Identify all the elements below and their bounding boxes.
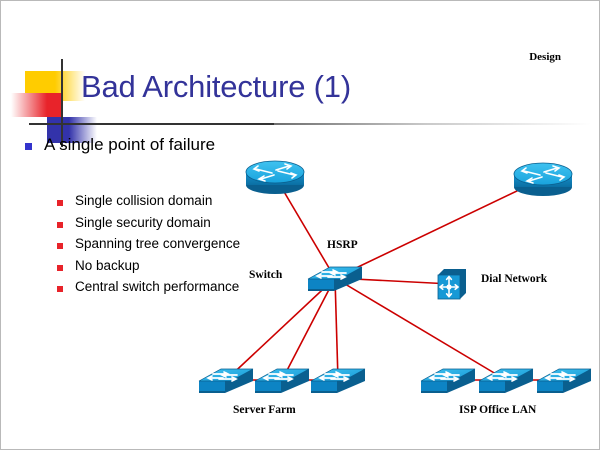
sub-bullet-item: Single security domain — [57, 215, 257, 232]
device-server-switch-1[interactable] — [199, 369, 253, 393]
device-core-switch[interactable] — [308, 267, 362, 291]
device-server-switch-2[interactable] — [255, 369, 309, 393]
device-router-right[interactable] — [514, 163, 572, 196]
link-core-switch-to-dial-network — [335, 278, 451, 284]
bullet-square-icon — [57, 200, 63, 206]
link-router-right-to-core-switch — [335, 179, 543, 279]
sub-bullet-item: No backup — [57, 258, 257, 275]
device-dial-network[interactable] — [438, 269, 466, 299]
deco-red-gradient — [11, 93, 47, 117]
design-tag: Design — [529, 51, 561, 63]
bullet-square-icon — [57, 265, 63, 271]
device-isp-switch-3[interactable] — [537, 369, 591, 393]
label-server-farm: Server Farm — [233, 404, 296, 416]
label-hsrp: HSRP — [327, 239, 358, 251]
sub-bullet-label: Spanning tree convergence — [75, 236, 240, 253]
deco-red-square — [47, 93, 61, 117]
sub-bullet-label: Single collision domain — [75, 193, 212, 210]
sub-bullet-item: Single collision domain — [57, 193, 257, 210]
bullet-square-icon — [57, 286, 63, 292]
deco-horizontal-line — [29, 123, 274, 125]
sub-bullet-item: Spanning tree convergence — [57, 236, 257, 253]
device-isp-switch-2[interactable] — [479, 369, 533, 393]
bullet-square-icon — [25, 143, 32, 150]
device-server-switch-3[interactable] — [311, 369, 365, 393]
sub-bullet-label: Central switch performance — [75, 279, 239, 296]
sub-bullet-label: No backup — [75, 258, 140, 275]
label-dial-network: Dial Network — [481, 273, 547, 285]
link-router-left-to-core-switch — [275, 177, 335, 279]
bullet-square-icon — [57, 222, 63, 228]
link-core-switch-to-server-switch-2 — [282, 278, 335, 380]
link-core-switch-to-server-switch-3 — [335, 278, 338, 380]
sub-bullet-list: Single collision domainSingle security d… — [57, 193, 257, 301]
device-router-left[interactable] — [246, 161, 304, 194]
sub-bullet-item: Central switch performance — [57, 279, 257, 296]
sub-bullet-label: Single security domain — [75, 215, 211, 232]
label-isp-office-lan: ISP Office LAN — [459, 404, 536, 416]
slide-canvas: Design Bad Architecture (1) A single poi… — [0, 0, 600, 450]
page-title: Bad Architecture (1) — [81, 69, 351, 105]
deco-vertical-line — [61, 59, 63, 147]
main-bullet-label: A single point of failure — [44, 135, 215, 155]
link-core-switch-to-isp-switch-2 — [335, 278, 506, 380]
label-switch: Switch — [249, 269, 282, 281]
main-bullet-item: A single point of failure — [25, 135, 215, 155]
bullet-square-icon — [57, 243, 63, 249]
device-isp-switch-1[interactable] — [421, 369, 475, 393]
